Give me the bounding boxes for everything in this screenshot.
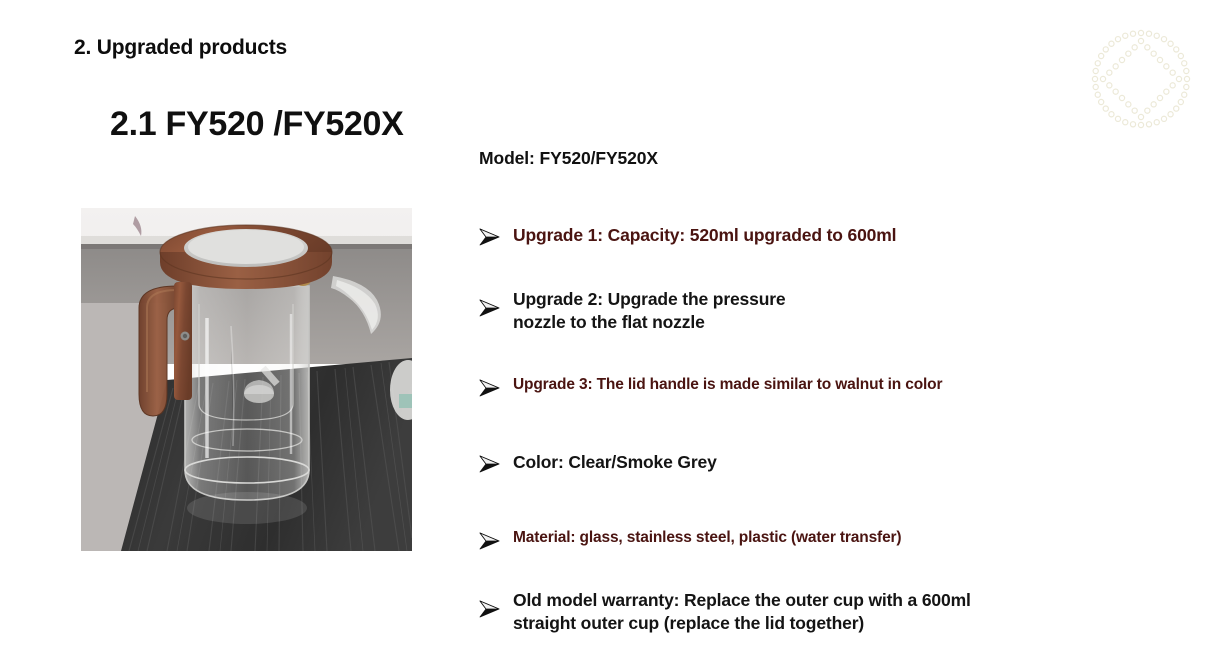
product-photo	[81, 208, 412, 551]
model-line: Model: FY520/FY520X	[479, 148, 658, 169]
bullet-text-line: Upgrade 1: Capacity: 520ml upgraded to 6…	[513, 224, 896, 247]
bullet-item: Upgrade 3: The lid handle is made simila…	[479, 375, 942, 397]
bullet-text-line: straight outer cup (replace the lid toge…	[513, 612, 971, 635]
bullet-text-line: Old model warranty: Replace the outer cu…	[513, 589, 971, 612]
dotted-circle-diamond-watermark-icon	[1088, 26, 1194, 132]
arrowhead-bullet-icon	[479, 288, 513, 317]
bullet-text: Upgrade 1: Capacity: 520ml upgraded to 6…	[513, 224, 896, 247]
bullet-text: Old model warranty: Replace the outer cu…	[513, 589, 971, 636]
arrowhead-bullet-icon	[479, 451, 513, 473]
bullet-item: Old model warranty: Replace the outer cu…	[479, 589, 971, 636]
bullet-item: Upgrade 1: Capacity: 520ml upgraded to 6…	[479, 224, 896, 247]
bullet-text-line: Upgrade 3: The lid handle is made simila…	[513, 375, 942, 396]
bullet-item: Material: glass, stainless steel, plasti…	[479, 528, 901, 550]
bullet-text: Color: Clear/Smoke Grey	[513, 451, 717, 474]
bullet-text: Material: glass, stainless steel, plasti…	[513, 528, 901, 549]
bullet-text: Upgrade 2: Upgrade the pressurenozzle to…	[513, 288, 786, 335]
section-heading: 2. Upgraded products	[74, 36, 287, 60]
bullet-text-line: Color: Clear/Smoke Grey	[513, 451, 717, 474]
arrowhead-bullet-icon	[479, 589, 513, 618]
bullet-text-line: nozzle to the flat nozzle	[513, 311, 786, 334]
subsection-heading: 2.1 FY520 /FY520X	[110, 105, 404, 144]
bullet-item: Upgrade 2: Upgrade the pressurenozzle to…	[479, 288, 786, 335]
arrowhead-bullet-icon	[479, 224, 513, 246]
bullet-item: Color: Clear/Smoke Grey	[479, 451, 717, 474]
bullet-text-line: Upgrade 2: Upgrade the pressure	[513, 288, 786, 311]
bullet-text: Upgrade 3: The lid handle is made simila…	[513, 375, 942, 396]
bullet-text-line: Material: glass, stainless steel, plasti…	[513, 528, 901, 549]
arrowhead-bullet-icon	[479, 528, 513, 550]
arrowhead-bullet-icon	[479, 375, 513, 397]
